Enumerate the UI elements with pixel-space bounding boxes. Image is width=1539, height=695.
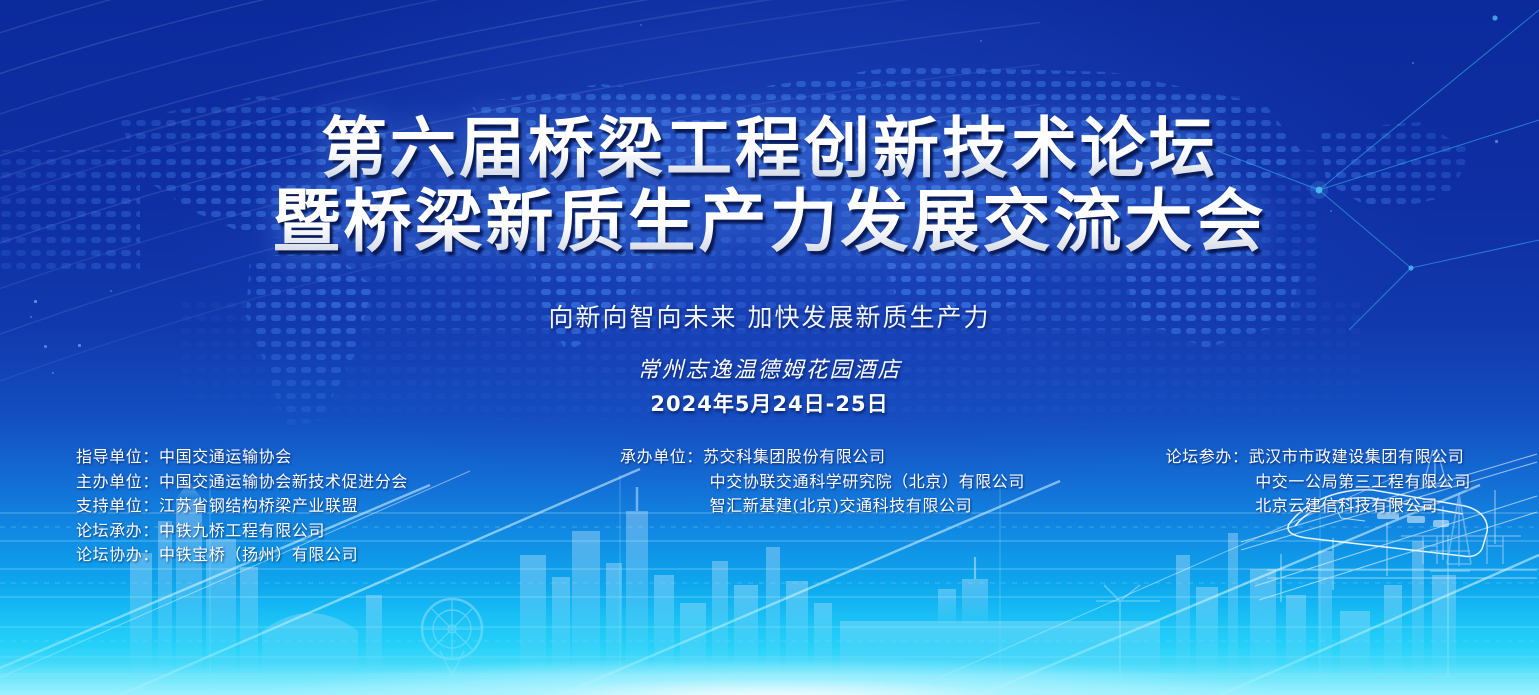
organizer-row: 北京云建信科技有限公司	[1166, 494, 1471, 519]
organizer-label: 论坛协办：	[76, 543, 159, 568]
organizer-value: 中交一公局第三工程有限公司	[1255, 470, 1471, 495]
banner-content: 第六届桥梁工程创新技术论坛 暨桥梁新质生产力发展交流大会 向新向智向未来 加快发…	[0, 0, 1539, 695]
organizer-label	[620, 470, 710, 495]
venue-block: 常州志逸温德姆花园酒店 2024年5月24日-25日	[0, 352, 1539, 418]
organizer-value: 智汇新基建(北京)交通科技有限公司	[710, 494, 973, 519]
organizer-value: 北京云建信科技有限公司	[1255, 494, 1438, 519]
event-date: 2024年5月24日-25日	[0, 388, 1539, 418]
organizer-row: 中交协联交通科学研究院（北京）有限公司	[620, 470, 1025, 495]
conference-banner: 第六届桥梁工程创新技术论坛 暨桥梁新质生产力发展交流大会 向新向智向未来 加快发…	[0, 0, 1539, 695]
organizer-value: 武汉市市政建设集团有限公司	[1249, 445, 1465, 470]
organizer-row: 中交一公局第三工程有限公司	[1166, 470, 1471, 495]
organizer-label	[620, 494, 710, 519]
venue-name: 常州志逸温德姆花园酒店	[0, 352, 1539, 384]
organizer-columns: 指导单位：中国交通运输协会主办单位：中国交通运输协会新技术促进分会支持单位：江苏…	[0, 445, 1539, 565]
organizer-label	[1166, 494, 1256, 519]
organizer-row: 支持单位：江苏省钢结构桥梁产业联盟	[76, 494, 408, 519]
title-line-1: 第六届桥梁工程创新技术论坛	[0, 112, 1539, 186]
organizer-value: 江苏省钢结构桥梁产业联盟	[159, 494, 358, 519]
organizer-value: 苏交科集团股份有限公司	[703, 445, 886, 470]
organizer-column-middle: 承办单位：苏交科集团股份有限公司中交协联交通科学研究院（北京）有限公司智汇新基建…	[620, 445, 1025, 519]
organizer-row: 主办单位：中国交通运输协会新技术促进分会	[76, 470, 408, 495]
organizer-label: 承办单位：	[620, 445, 703, 470]
organizer-label: 指导单位：	[76, 445, 159, 470]
organizer-value: 中国交通运输协会	[159, 445, 292, 470]
banner-slogan: 向新向智向未来 加快发展新质生产力	[0, 298, 1539, 334]
banner-title: 第六届桥梁工程创新技术论坛 暨桥梁新质生产力发展交流大会	[0, 112, 1539, 260]
organizer-column-left: 指导单位：中国交通运输协会主办单位：中国交通运输协会新技术促进分会支持单位：江苏…	[76, 445, 408, 568]
title-line-2: 暨桥梁新质生产力发展交流大会	[0, 186, 1539, 260]
organizer-value: 中交协联交通科学研究院（北京）有限公司	[710, 470, 1025, 495]
organizer-label: 论坛承办：	[76, 519, 159, 544]
organizer-value: 中铁九桥工程有限公司	[159, 519, 325, 544]
organizer-row: 论坛协办：中铁宝桥（扬州）有限公司	[76, 543, 408, 568]
organizer-value: 中国交通运输协会新技术促进分会	[159, 470, 408, 495]
organizer-row: 论坛承办：中铁九桥工程有限公司	[76, 519, 408, 544]
organizer-column-right: 论坛参办：武汉市市政建设集团有限公司中交一公局第三工程有限公司北京云建信科技有限…	[1166, 445, 1471, 519]
organizer-label: 论坛参办：	[1166, 445, 1249, 470]
organizer-row: 论坛参办：武汉市市政建设集团有限公司	[1166, 445, 1471, 470]
organizer-label: 主办单位：	[76, 470, 159, 495]
organizer-label	[1166, 470, 1256, 495]
organizer-row: 承办单位：苏交科集团股份有限公司	[620, 445, 1025, 470]
organizer-value: 中铁宝桥（扬州）有限公司	[159, 543, 358, 568]
organizer-row: 指导单位：中国交通运输协会	[76, 445, 408, 470]
organizer-label: 支持单位：	[76, 494, 159, 519]
organizer-row: 智汇新基建(北京)交通科技有限公司	[620, 494, 1025, 519]
